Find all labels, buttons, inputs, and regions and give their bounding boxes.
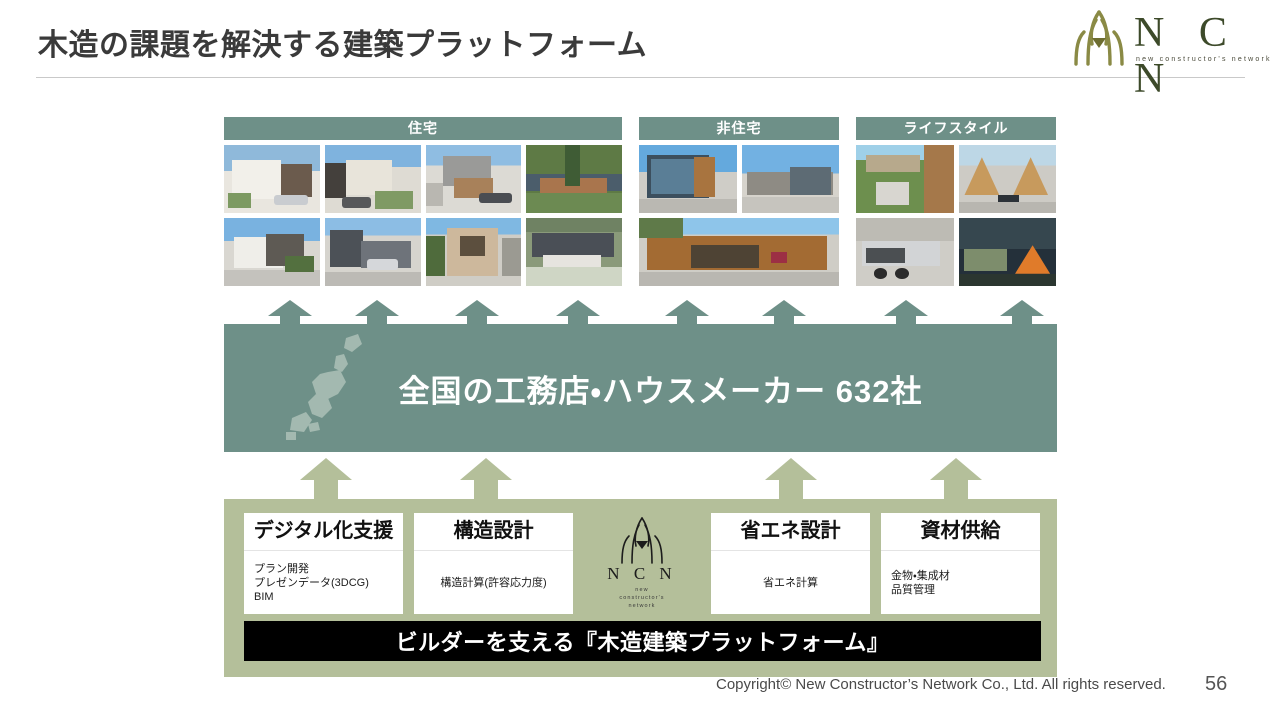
copyright-text: Copyright© New Constructor’s Network Co.… bbox=[716, 676, 1166, 693]
service-card-title: 構造設計 bbox=[414, 513, 573, 551]
photo-thumbnail bbox=[742, 145, 840, 213]
service-card-energy[interactable]: 省エネ設計 省エネ計算 bbox=[711, 513, 870, 614]
photo-grid-residential bbox=[224, 145, 622, 286]
service-card-title: 省エネ設計 bbox=[711, 513, 870, 551]
photo-thumbnail bbox=[224, 218, 320, 286]
arrow-up-sage-3 bbox=[765, 458, 817, 500]
photo-thumbnail bbox=[325, 145, 421, 213]
service-card-digital[interactable]: デジタル化支援 プラン開発 プレゼンデータ(3DCG) BIM bbox=[244, 513, 403, 614]
page-number: 56 bbox=[1205, 673, 1227, 696]
page-title: 木造の課題を解決する建築プラットフォーム bbox=[38, 20, 647, 64]
category-column-lifestyle: ライフスタイル bbox=[856, 117, 1056, 286]
ncn-logo-tagline: new constructor's network bbox=[1136, 56, 1272, 63]
service-item: 構造計算(許容応力度) bbox=[440, 576, 546, 590]
photo-thumbnail bbox=[959, 218, 1057, 286]
ncn-logo-letters: N C N bbox=[603, 564, 681, 584]
arrow-up-sage-4 bbox=[930, 458, 982, 500]
ncn-logo-header: N C N new constructor's network bbox=[1068, 6, 1250, 70]
nationwide-builders-band: 全国の工務店・ハウスメーカー 632社 bbox=[224, 324, 1057, 452]
service-item: BIM bbox=[254, 590, 274, 604]
category-header-residential: 住宅 bbox=[224, 117, 622, 140]
slide-header: 木造の課題を解決する建築プラットフォーム N C N new construct… bbox=[0, 0, 1280, 78]
header-divider bbox=[36, 77, 1245, 78]
arrow-up-sage-2 bbox=[460, 458, 512, 500]
service-card-title: デジタル化支援 bbox=[244, 513, 403, 551]
service-card-items: 省エネ計算 bbox=[711, 551, 870, 614]
services-panel: デジタル化支援 プラン開発 プレゼンデータ(3DCG) BIM 構造設計 構造計… bbox=[224, 499, 1057, 677]
category-header-lifestyle: ライフスタイル bbox=[856, 117, 1056, 140]
service-card-items: 金物・集成材 品質管理 bbox=[881, 551, 1040, 614]
photo-thumbnail bbox=[426, 218, 522, 286]
category-header-non-residential: 非住宅 bbox=[639, 117, 839, 140]
photo-thumbnail bbox=[426, 145, 522, 213]
photo-thumbnail bbox=[856, 145, 954, 213]
service-card-structural[interactable]: 構造設計 構造計算(許容応力度) bbox=[414, 513, 573, 614]
photo-thumbnail bbox=[526, 145, 622, 213]
band-label: 全国の工務店・ハウスメーカー 632社 bbox=[224, 324, 1057, 452]
service-item: 金物・集成材 bbox=[891, 569, 950, 583]
category-column-non-residential: 非住宅 bbox=[639, 117, 839, 286]
service-item: 省エネ計算 bbox=[763, 576, 818, 590]
photo-thumbnail bbox=[325, 218, 421, 286]
photo-thumbnail bbox=[639, 145, 737, 213]
service-item: プラン開発 bbox=[254, 562, 309, 576]
ncn-logo-center: N C N new constructor's network bbox=[603, 516, 681, 612]
center-logo-slot: N C N new constructor's network bbox=[573, 513, 711, 614]
photo-thumbnail bbox=[526, 218, 622, 286]
photo-thumbnail bbox=[856, 218, 954, 286]
photo-thumbnail bbox=[224, 145, 320, 213]
service-item: プレゼンデータ(3DCG) bbox=[254, 576, 369, 590]
photo-grid-lifestyle bbox=[856, 145, 1056, 286]
photo-thumbnail-wide bbox=[639, 218, 839, 286]
arrow-up-sage-1 bbox=[300, 458, 352, 500]
platform-banner: ビルダーを支える『木造建築プラットフォーム』 bbox=[244, 621, 1041, 661]
photo-grid-non-residential bbox=[639, 145, 839, 286]
service-card-items: プラン開発 プレゼンデータ(3DCG) BIM bbox=[244, 551, 403, 614]
tagline-line: constructor's bbox=[619, 595, 664, 601]
service-card-items: 構造計算(許容応力度) bbox=[414, 551, 573, 614]
ncn-logo-tagline: new constructor's network bbox=[603, 586, 681, 610]
tagline-line: new bbox=[635, 587, 648, 593]
service-card-row: デジタル化支援 プラン開発 プレゼンデータ(3DCG) BIM 構造設計 構造計… bbox=[244, 513, 1041, 614]
service-card-title: 資材供給 bbox=[881, 513, 1040, 551]
service-item: 品質管理 bbox=[891, 583, 935, 597]
photo-thumbnail bbox=[959, 145, 1057, 213]
tagline-line: network bbox=[629, 603, 656, 609]
ncn-grass-mark-icon bbox=[617, 516, 667, 564]
ncn-grass-mark-icon bbox=[1068, 8, 1130, 66]
service-card-materials[interactable]: 資材供給 金物・集成材 品質管理 bbox=[881, 513, 1040, 614]
category-column-residential: 住宅 bbox=[224, 117, 622, 286]
